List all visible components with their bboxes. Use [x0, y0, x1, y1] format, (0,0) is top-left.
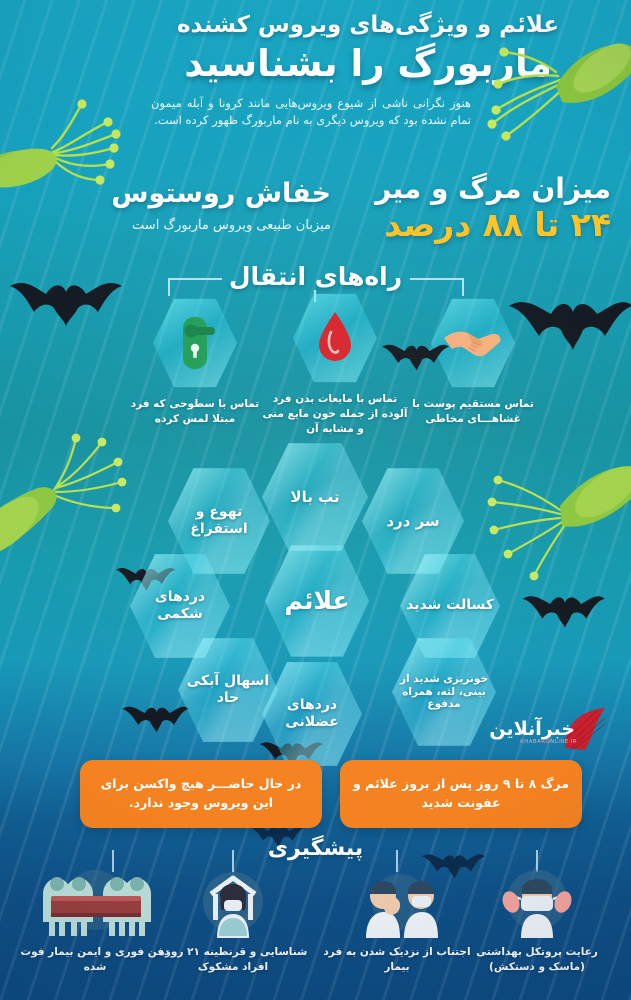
transmission-hex-3 — [431, 297, 515, 389]
symptom-label-4: دردهای شکمی — [130, 589, 230, 623]
callout-death-timing-text: مرگ ۸ تا ۹ روز پس از بروز علائم و عفونت … — [352, 775, 570, 813]
doorknob-icon — [173, 315, 217, 371]
logo-url: KHABARONLINE.IR — [520, 739, 577, 745]
safe-burial-icon — [25, 866, 165, 940]
symptom-label-2: تهوع و استفراغ — [168, 504, 270, 538]
prevention-art-3 — [322, 866, 472, 940]
prevention-caption-4: رعایت پروتکل بهداشتی (ماسک و دستکش) — [462, 945, 612, 975]
transmission-heading: راه‌های انتقال — [0, 262, 631, 291]
mortality-label: میزان مرگ و میر — [331, 172, 611, 205]
symptom-label-6: اسهال آبکی حاد — [178, 673, 278, 707]
transmission-item-2: تماس با مایعات بدن فرد آلوده از جمله خون… — [260, 292, 410, 438]
page-subtitle: هنوز نگرانی ناشی از شیوع ویروس‌هایی مانن… — [151, 95, 471, 129]
bat-silhouette-right-2 — [520, 588, 606, 632]
prevention-item-2: شناسایی و قرنطینه ۲۱ روزه افراد مشکوک — [158, 866, 308, 975]
header-section: علائم و ویژگی‌های ویروس کشنده ماربورگ را… — [0, 0, 631, 160]
callout-no-vaccine-text: در حال حاضـــر هیچ واکسن برای این ویروس … — [92, 775, 310, 813]
page-title-line-1: علائم و ویژگی‌های ویروس کشنده — [133, 12, 603, 38]
prevention-item-1: دفن فوری و ایمن بیمار فوت شده — [20, 866, 170, 975]
virus-illustration-mid-left — [0, 430, 160, 570]
prevention-item-4: رعایت پروتکل بهداشتی (ماسک و دستکش) — [462, 866, 612, 975]
logo-name: خبرآنلاین — [489, 718, 575, 740]
transmission-hex-1 — [153, 297, 237, 389]
prevention-caption-2: شناسایی و قرنطینه ۲۱ روزه افراد مشکوک — [158, 945, 308, 975]
transmission-caption-1: تماس با سطوحی که فرد مبتلا لمس کرده — [120, 397, 270, 427]
symptom-label-7: دردهای عضلانی — [262, 697, 362, 731]
callout-no-vaccine: در حال حاضـــر هیچ واکسن برای این ویروس … — [80, 760, 322, 828]
callout-death-timing: مرگ ۸ تا ۹ روز پس از بروز علائم و عفونت … — [340, 760, 582, 828]
blood-drop-icon — [315, 310, 355, 366]
transmission-item-1: تماس با سطوحی که فرد مبتلا لمس کرده — [120, 297, 270, 427]
symptom-label-5: کسالت شدید — [400, 597, 500, 614]
prevention-art-4 — [462, 866, 612, 940]
symptoms-center-label: علائم — [278, 586, 355, 617]
symptom-label-1: تب بالا — [284, 488, 345, 506]
prevention-item-3: اجتناب از نزدیک شدن به فرد بیمار — [322, 866, 472, 975]
prevention-caption-3: اجتناب از نزدیک شدن به فرد بیمار — [322, 945, 472, 975]
transmission-hex-2 — [293, 292, 377, 384]
mask-gloves-icon — [487, 866, 587, 940]
symptom-hex-7: دردهای عضلانی — [262, 660, 362, 768]
transmission-caption-3: تماس مستقیم پوست با غشاهـــای مخاطی — [398, 397, 548, 427]
transmission-item-3: تماس مستقیم پوست با غشاهـــای مخاطی — [398, 297, 548, 427]
bracket-left — [168, 278, 222, 296]
host-title: خفاش روستوس — [31, 178, 331, 209]
symptom-label-3: سر درد — [380, 512, 445, 530]
mortality-value: ۲۴ تا ۸۸ درصد — [331, 205, 611, 244]
host-subtitle: میزبان طبیعی ویروس ماربورگ است — [31, 218, 331, 233]
prevention-art-2 — [158, 866, 308, 940]
symptoms-center-hex: علائم — [265, 543, 369, 659]
avoid-contact-icon — [342, 866, 452, 940]
bracket-right — [410, 278, 464, 296]
prevention-caption-1: دفن فوری و ایمن بیمار فوت شده — [20, 945, 170, 975]
handshake-icon — [442, 322, 504, 364]
symptom-hex-1: تب بالا — [262, 441, 368, 553]
quarantine-home-icon — [183, 866, 283, 940]
page-title-line-2: ماربورگ را بشناسید — [133, 42, 603, 85]
bat-silhouette-left-3 — [120, 700, 190, 736]
transmission-caption-2: تماس با مایعات بدن فرد آلوده از جمله خون… — [260, 392, 410, 438]
publisher-logo[interactable]: خبرآنلاین KHABARONLINE.IR — [455, 706, 615, 754]
infographic-page: علائم و ویژگی‌های ویروس کشنده ماربورگ را… — [0, 0, 631, 1000]
prevention-art-1 — [20, 866, 170, 940]
